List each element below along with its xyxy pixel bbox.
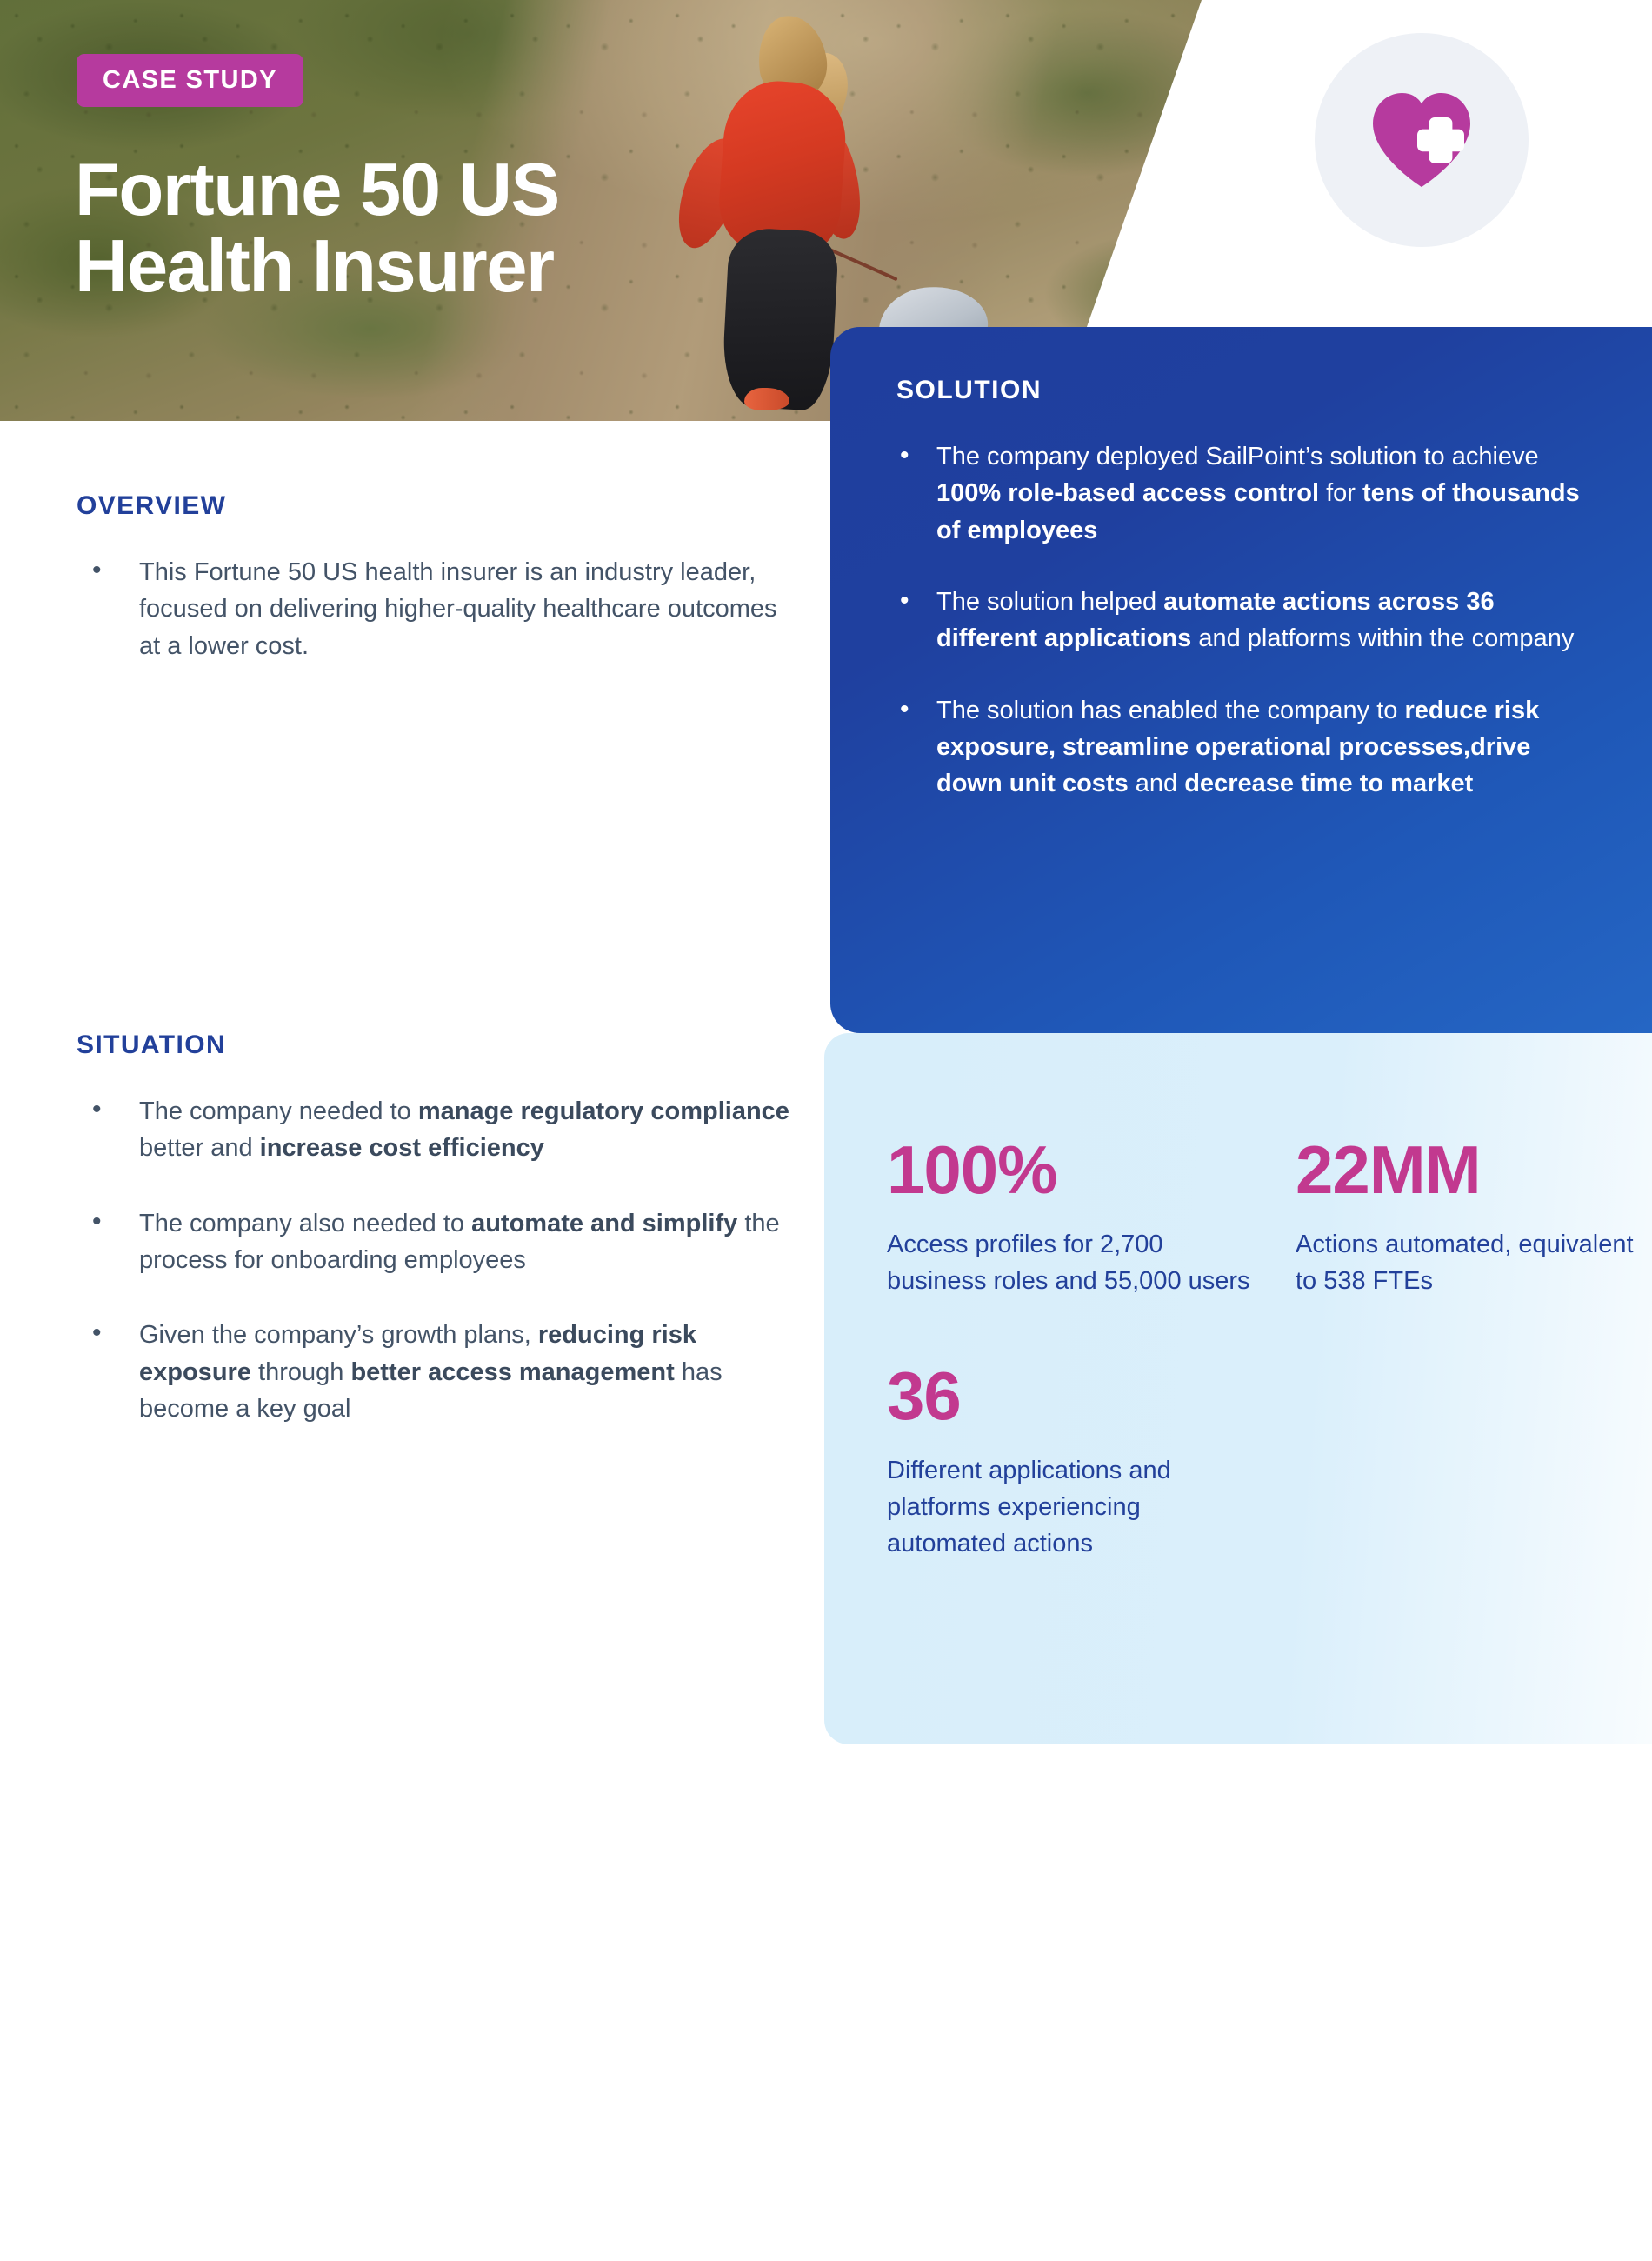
stat-description: Actions automated, equivalent to 538 FTE… xyxy=(1296,1226,1643,1299)
overview-section: OVERVIEW This Fortune 50 US health insur… xyxy=(77,491,798,703)
solution-bullet: The solution has enabled the company to … xyxy=(896,692,1600,803)
stat-description: Access profiles for 2,700 business roles… xyxy=(887,1226,1252,1299)
heart-plus-icon-container xyxy=(1315,33,1529,247)
stat-value: 100% xyxy=(887,1136,1296,1204)
stats-grid: 100%Access profiles for 2,700 business r… xyxy=(887,1136,1652,1562)
stats-panel: 100%Access profiles for 2,700 business r… xyxy=(824,1033,1652,1744)
situation-section: SITUATION The company needed to manage r… xyxy=(77,1030,798,1465)
solution-bullet: The company deployed SailPoint’s solutio… xyxy=(896,438,1600,549)
stat-item: 100%Access profiles for 2,700 business r… xyxy=(887,1136,1296,1299)
situation-bullet: The company also needed to automate and … xyxy=(77,1205,798,1279)
heart-plus-icon xyxy=(1366,86,1477,194)
runner-shoe xyxy=(744,388,789,410)
overview-heading: OVERVIEW xyxy=(77,491,798,521)
stat-value: 22MM xyxy=(1296,1136,1643,1204)
case-study-badge: CASE STUDY xyxy=(77,54,303,107)
stat-value: 36 xyxy=(887,1362,1296,1430)
solution-bullet: The solution helped automate actions acr… xyxy=(896,584,1600,657)
situation-bullet: The company needed to manage regulatory … xyxy=(77,1093,798,1167)
stat-item: 36Different applications and platforms e… xyxy=(887,1362,1296,1562)
situation-bullet: Given the company’s growth plans, reduci… xyxy=(77,1317,798,1427)
page-title: Fortune 50 US Health Insurer xyxy=(75,152,857,304)
situation-bullet-list: The company needed to manage regulatory … xyxy=(77,1093,798,1427)
solution-heading: SOLUTION xyxy=(896,376,1600,405)
overview-bullet: This Fortune 50 US health insurer is an … xyxy=(77,554,798,664)
stat-description: Different applications and platforms exp… xyxy=(887,1452,1252,1562)
situation-heading: SITUATION xyxy=(77,1030,798,1060)
solution-panel: SOLUTION The company deployed SailPoint’… xyxy=(830,327,1652,1033)
overview-bullet-list: This Fortune 50 US health insurer is an … xyxy=(77,554,798,664)
solution-bullet-list: The company deployed SailPoint’s solutio… xyxy=(896,438,1600,803)
stat-item: 22MMActions automated, equivalent to 538… xyxy=(1296,1136,1643,1299)
case-study-page: CASE STUDY Fortune 50 US Health Insurer … xyxy=(0,0,1652,2261)
